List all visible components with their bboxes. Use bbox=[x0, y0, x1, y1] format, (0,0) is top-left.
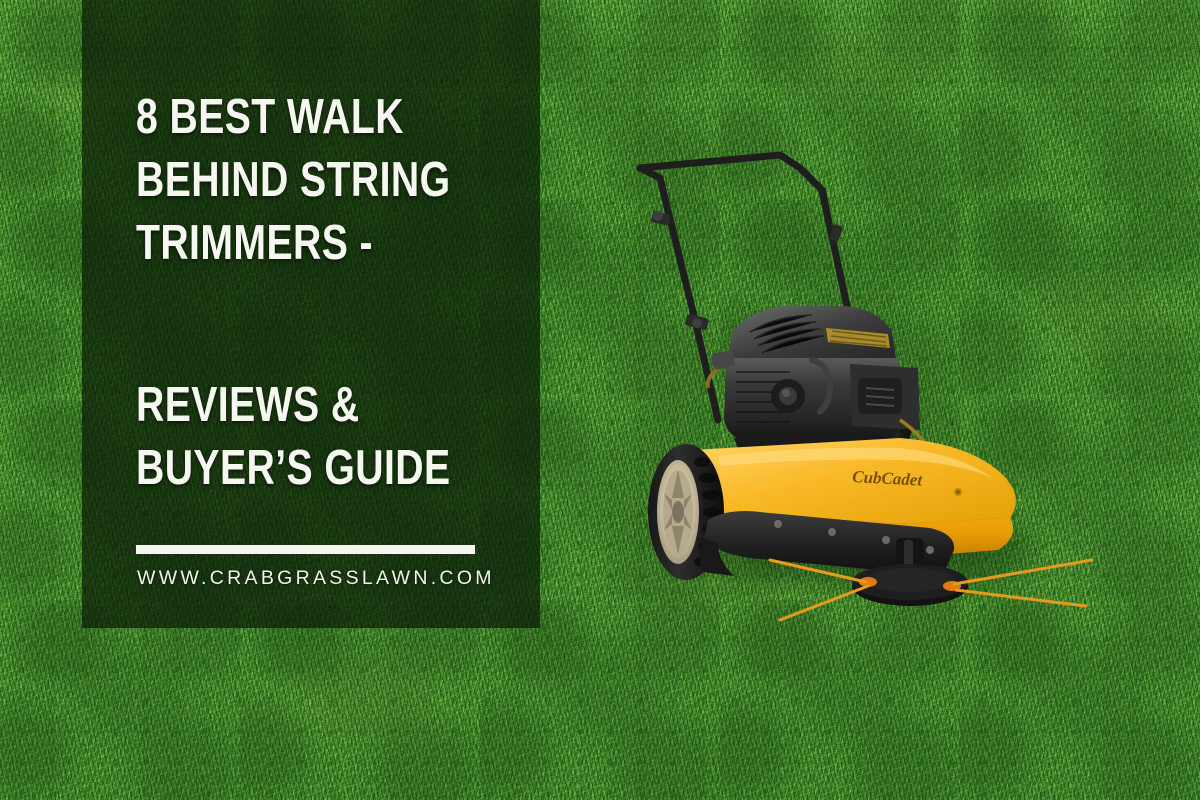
brand-logo-text: CubCadet bbox=[852, 467, 924, 490]
engine-top-shroud bbox=[728, 306, 896, 358]
banner-text-block: 8 BEST WALK BEHIND STRING TRIMMERS - REV… bbox=[136, 0, 496, 628]
product-image-string-trimmer: CubCadet bbox=[600, 120, 1120, 620]
title-line-1: 8 BEST WALK bbox=[136, 86, 488, 149]
blog-header-banner: 8 BEST WALK BEHIND STRING TRIMMERS - REV… bbox=[0, 0, 1200, 800]
trimmer-line-right-2 bbox=[956, 590, 1086, 606]
page-title: 8 BEST WALK BEHIND STRING TRIMMERS - bbox=[136, 86, 488, 275]
subtitle-line-1: REVIEWS & bbox=[136, 374, 488, 437]
horizontal-divider-rule bbox=[136, 545, 475, 554]
title-line-2: BEHIND STRING bbox=[136, 149, 488, 212]
site-url-label: WWW.CRABGRASSLAWN.COM bbox=[137, 567, 495, 590]
wheel-hub bbox=[672, 501, 684, 523]
page-subtitle: REVIEWS & BUYER’S GUIDE bbox=[136, 374, 488, 500]
subtitle-line-2: BUYER’S GUIDE bbox=[136, 437, 488, 500]
title-line-3: TRIMMERS - bbox=[136, 212, 488, 275]
handle-top-crossbar bbox=[640, 155, 800, 168]
